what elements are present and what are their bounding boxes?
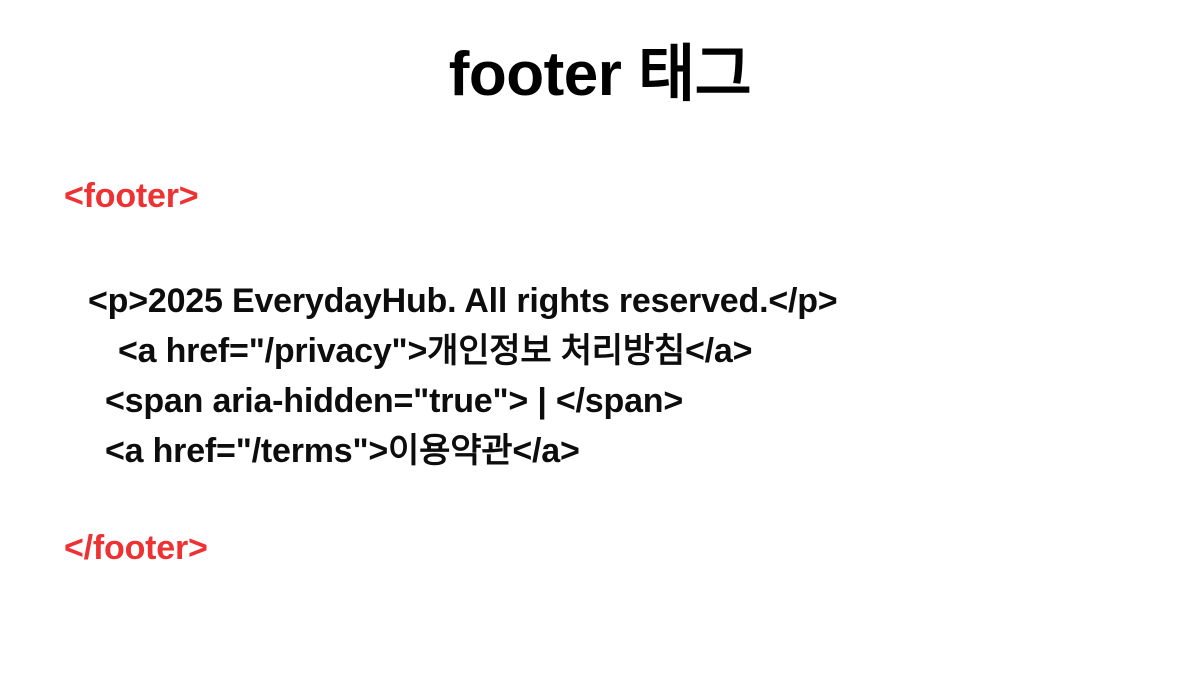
- code-line-privacy-link: <a href="/privacy">개인정보 처리방침</a>: [118, 331, 752, 371]
- code-block: <footer> <p>2025 EverydayHub. All rights…: [0, 176, 1200, 596]
- page-title: footer 태그: [0, 42, 1200, 107]
- slide-root: footer 태그 <footer> <p>2025 EverydayHub. …: [0, 0, 1200, 675]
- code-line-separator-span: <span aria-hidden="true"> | </span>: [105, 381, 683, 421]
- code-line-paragraph: <p>2025 EverydayHub. All rights reserved…: [88, 281, 837, 321]
- code-line-terms-link: <a href="/terms">이용약관</a>: [105, 431, 580, 471]
- footer-open-tag: <footer>: [64, 176, 198, 216]
- footer-close-tag: </footer>: [64, 528, 208, 568]
